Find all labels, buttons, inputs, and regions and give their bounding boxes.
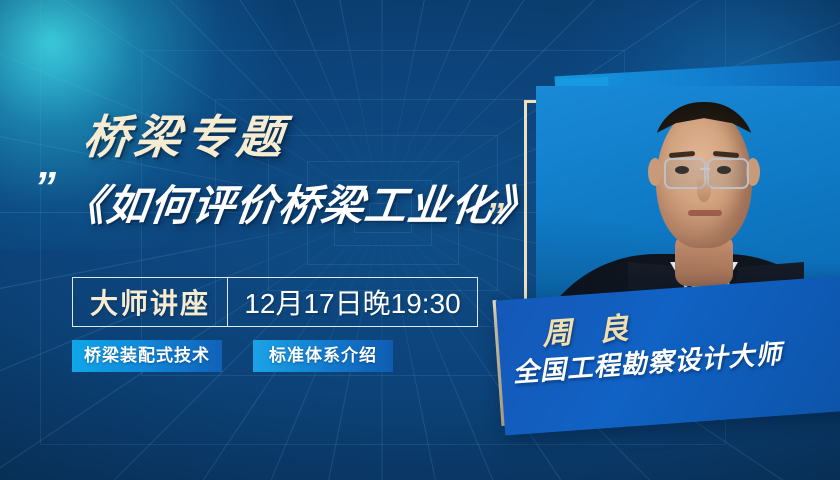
page-title: 桥梁专题	[81, 101, 292, 167]
topic-tag-list: 桥梁装配式技术 标准体系介绍	[72, 340, 393, 372]
event-label: 大师讲座	[73, 278, 228, 326]
topic-tag[interactable]: 标准体系介绍	[253, 340, 393, 372]
lecture-title: 《如何评价桥梁工业化》	[60, 172, 541, 233]
event-info-box: 大师讲座 12月17日晚19:30	[72, 277, 478, 327]
topic-tag[interactable]: 桥梁装配式技术	[72, 340, 222, 372]
quote-close-icon: ”	[486, 198, 502, 234]
event-datetime: 12月17日晚19:30	[228, 278, 477, 326]
speaker-name-card-content: 周 良 全国工程勘察设计大师	[541, 303, 783, 387]
quote-open-icon: ”	[34, 166, 54, 210]
speaker-name-card: 周 良 全国工程勘察设计大师	[496, 276, 840, 436]
webinar-promo-poster: 桥梁专题 ” 《如何评价桥梁工业化》 ” 大师讲座 12月17日晚19:30 桥…	[0, 0, 840, 480]
